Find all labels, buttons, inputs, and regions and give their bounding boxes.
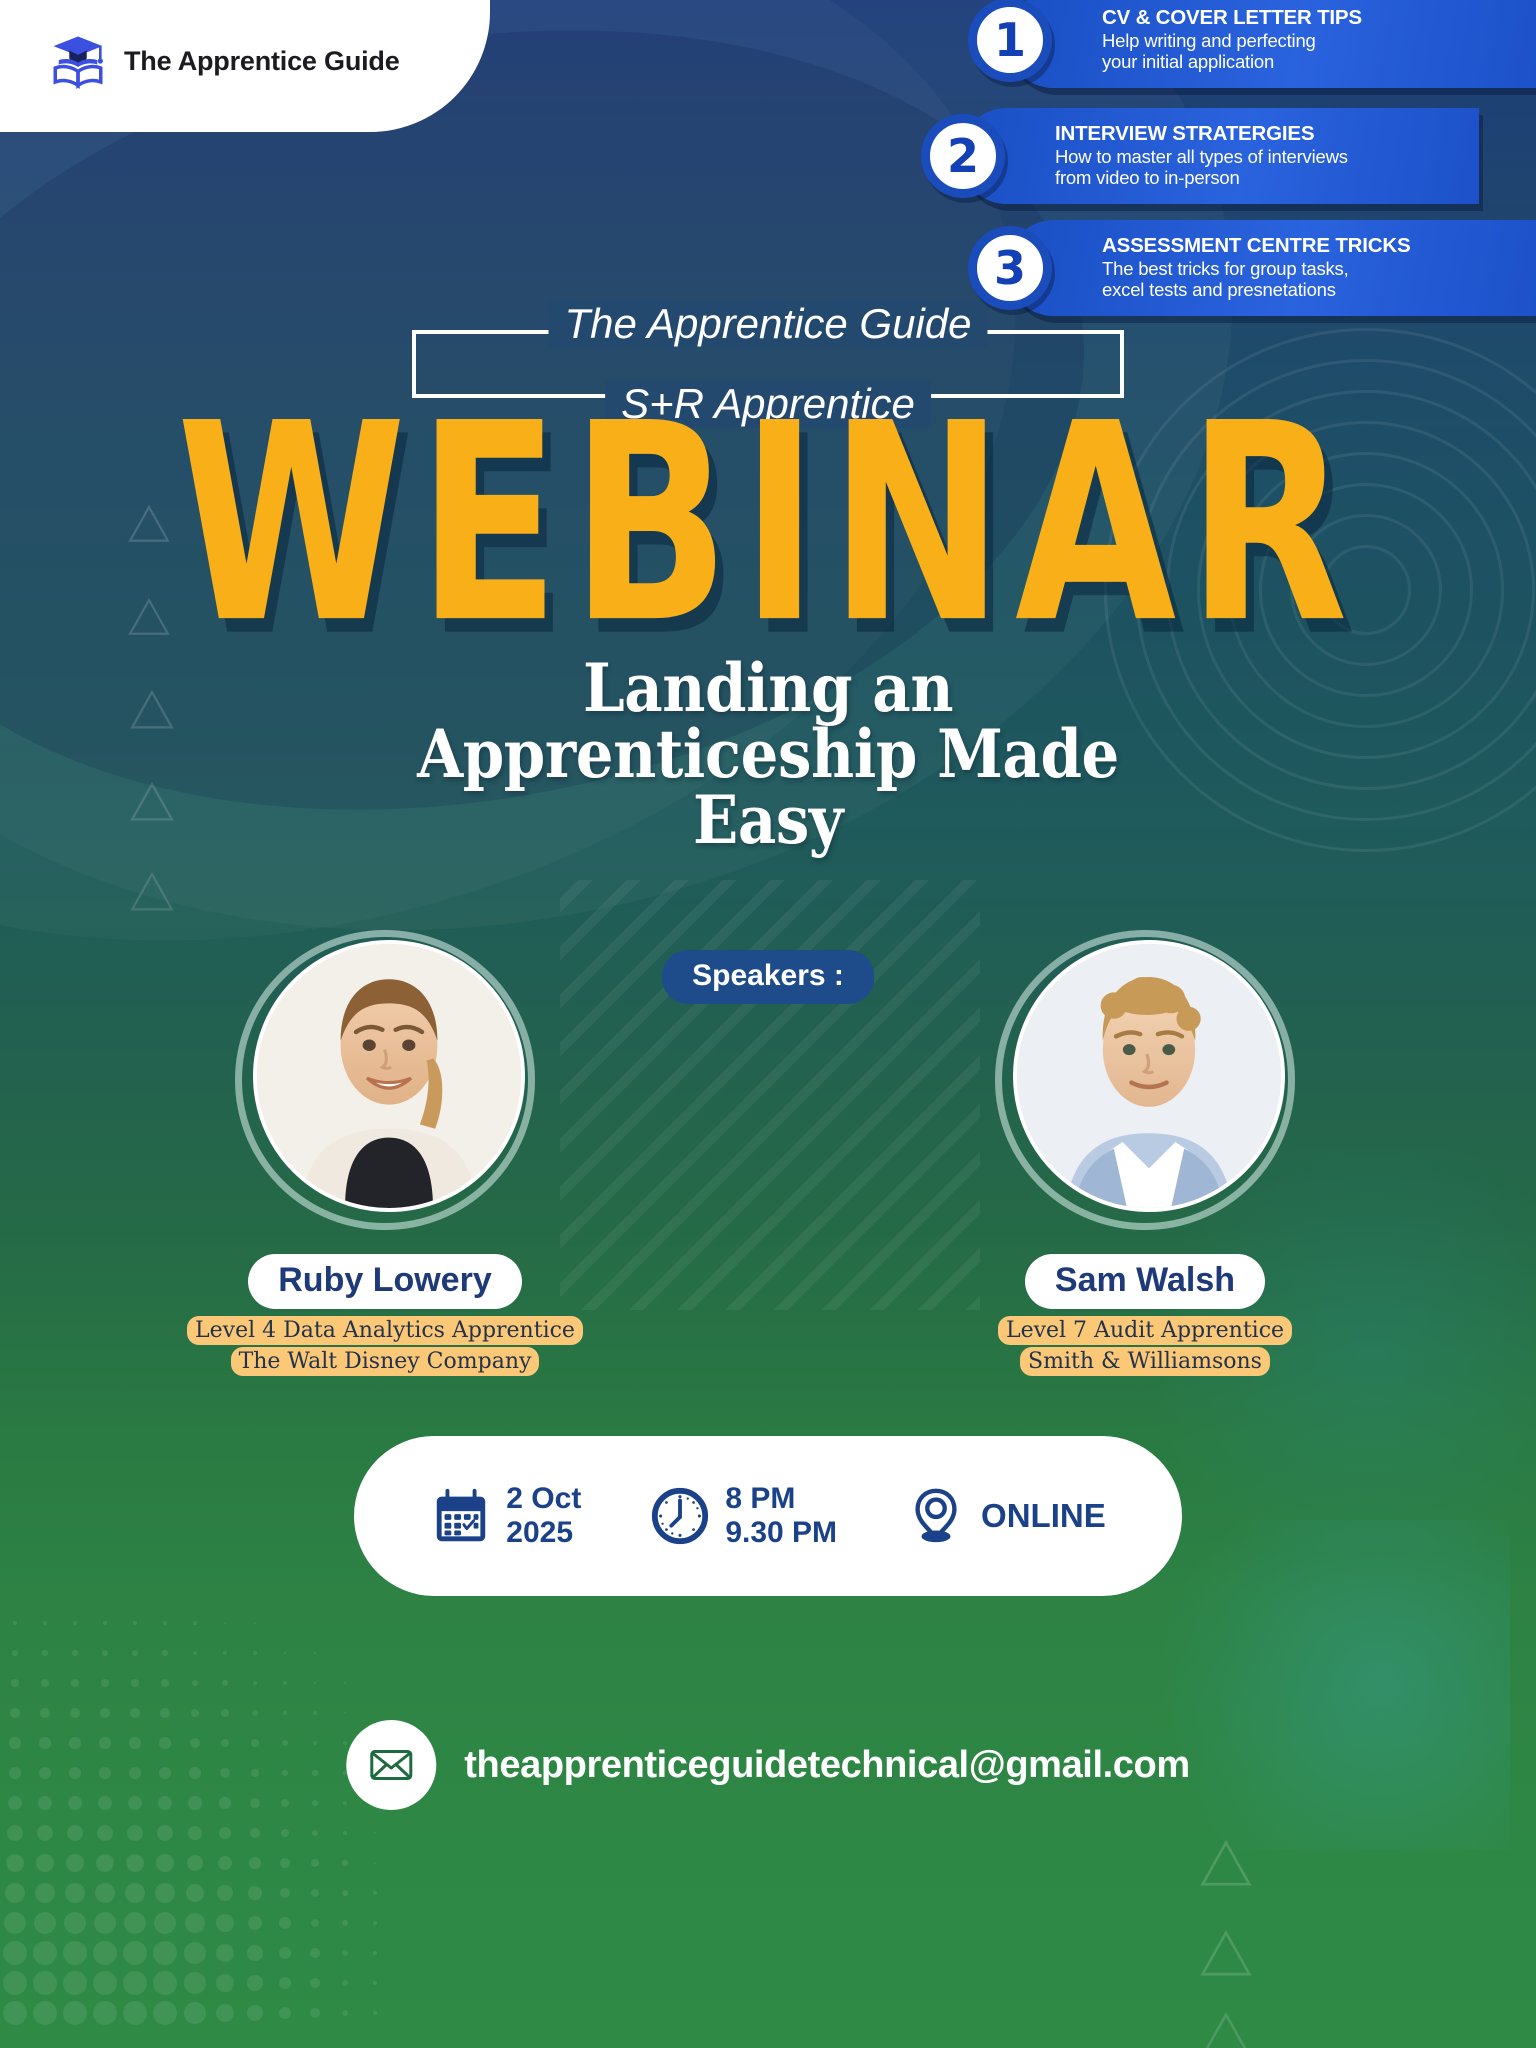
- speaker-role-1: Level 4 Data Analytics Apprentice The Wa…: [170, 1315, 600, 1377]
- speaker-role-1-line1: Level 4 Data Analytics Apprentice: [187, 1316, 583, 1345]
- webinar-poster: The Apprentice Guide 1 CV & COVER LETTER…: [0, 0, 1536, 2048]
- triangle-icon: [1200, 2012, 1252, 2048]
- page-title: WEBINAR: [0, 412, 1536, 596]
- tip-desc-3-line2: excel tests and presnetations: [1102, 280, 1410, 301]
- detail-date-line2: 2025: [506, 1516, 573, 1549]
- detail-date-text: 2 Oct 2025: [506, 1482, 581, 1550]
- speaker-name-2: Sam Walsh: [1025, 1254, 1265, 1309]
- tip-item-2: 2 INTERVIEW STRATERGIES How to master al…: [959, 108, 1479, 204]
- triangle-icon: [130, 872, 174, 912]
- triangle-icon: [1200, 1930, 1252, 1977]
- speaker-role-1-line2: The Walt Disney Company: [231, 1347, 540, 1376]
- speaker-role-2-line2: Smith & Williamsons: [1020, 1347, 1270, 1376]
- tip-number-1: 1: [968, 0, 1052, 82]
- brand-band-line1: The Apprentice Guide: [548, 300, 987, 348]
- tip-body-1: CV & COVER LETTER TIPS Help writing and …: [1102, 7, 1372, 72]
- calendar-icon: [430, 1485, 492, 1547]
- detail-location: ONLINE: [905, 1485, 1106, 1547]
- detail-time: 8 PM 9.30 PM: [649, 1482, 837, 1550]
- tip-title-1: CV & COVER LETTER TIPS: [1102, 7, 1362, 30]
- subtitle-line2: Apprenticeship Made: [291, 721, 1245, 787]
- speaker-name-1: Ruby Lowery: [248, 1254, 521, 1309]
- speaker-card-1: Ruby Lowery Level 4 Data Analytics Appre…: [170, 930, 600, 1377]
- tip-item-3: 3 ASSESSMENT CENTRE TRICKS The best tric…: [1006, 220, 1536, 316]
- tip-desc-2-line2: from video to in-person: [1055, 168, 1348, 189]
- tip-body-3: ASSESSMENT CENTRE TRICKS The best tricks…: [1102, 235, 1420, 300]
- triangle-icon: [130, 690, 174, 730]
- speaker-card-2: Sam Walsh Level 7 Audit Apprentice Smith…: [930, 930, 1360, 1377]
- tip-number-2: 2: [921, 114, 1005, 198]
- tip-desc-1-line1: Help writing and perfecting: [1102, 31, 1362, 52]
- tip-desc-3-line1: The best tricks for group tasks,: [1102, 259, 1410, 280]
- triangle-icon: [130, 782, 174, 822]
- event-details-bar: 2 Oct 2025: [354, 1436, 1182, 1596]
- speaker-role-2-line1: Level 7 Audit Apprentice: [998, 1316, 1292, 1345]
- contact-email-text: theapprenticeguidetechnical@gmail.com: [464, 1744, 1189, 1787]
- brand-logo: The Apprentice Guide: [0, 0, 490, 132]
- tip-desc-2-line1: How to master all types of interviews: [1055, 147, 1348, 168]
- subtitle-line1: Landing an: [291, 655, 1245, 721]
- detail-date: 2 Oct 2025: [430, 1482, 581, 1550]
- graduation-cap-book-icon: [50, 33, 106, 89]
- halftone-dots-decoration: [0, 1548, 400, 2048]
- subtitle-line3: Easy: [291, 787, 1245, 853]
- speaker-photo-1: [257, 944, 521, 1208]
- detail-location-text: ONLINE: [981, 1497, 1106, 1535]
- speaker-photo-2: [1017, 944, 1281, 1208]
- map-pin-icon: [905, 1485, 967, 1547]
- detail-date-line1: 2 Oct: [506, 1482, 581, 1515]
- subtitle: Landing an Apprenticeship Made Easy: [238, 655, 1298, 853]
- triangle-icon: [1200, 1840, 1252, 1887]
- detail-time-text: 8 PM 9.30 PM: [725, 1482, 837, 1550]
- clock-icon: [649, 1485, 711, 1547]
- tip-title-3: ASSESSMENT CENTRE TRICKS: [1102, 235, 1410, 258]
- avatar: [235, 930, 535, 1230]
- detail-time-line2: 9.30 PM: [725, 1516, 837, 1549]
- envelope-icon: [346, 1720, 436, 1810]
- tip-desc-1-line2: your initial application: [1102, 52, 1362, 73]
- triangle-icon: [128, 598, 170, 636]
- contact-email-row[interactable]: theapprenticeguidetechnical@gmail.com: [346, 1720, 1189, 1810]
- speaker-role-2: Level 7 Audit Apprentice Smith & William…: [930, 1315, 1360, 1377]
- tip-number-3: 3: [968, 226, 1052, 310]
- headline-text: WEBINAR: [177, 412, 1359, 636]
- tip-title-2: INTERVIEW STRATERGIES: [1055, 123, 1348, 146]
- tip-item-1: 1 CV & COVER LETTER TIPS Help writing an…: [1006, 0, 1536, 88]
- speakers-label: Speakers :: [662, 950, 874, 1004]
- detail-time-line1: 8 PM: [725, 1482, 795, 1515]
- brand-logo-text: The Apprentice Guide: [124, 46, 400, 77]
- tip-body-2: INTERVIEW STRATERGIES How to master all …: [1055, 123, 1358, 188]
- diagonal-stripes-decoration: [560, 880, 980, 1310]
- avatar: [995, 930, 1295, 1230]
